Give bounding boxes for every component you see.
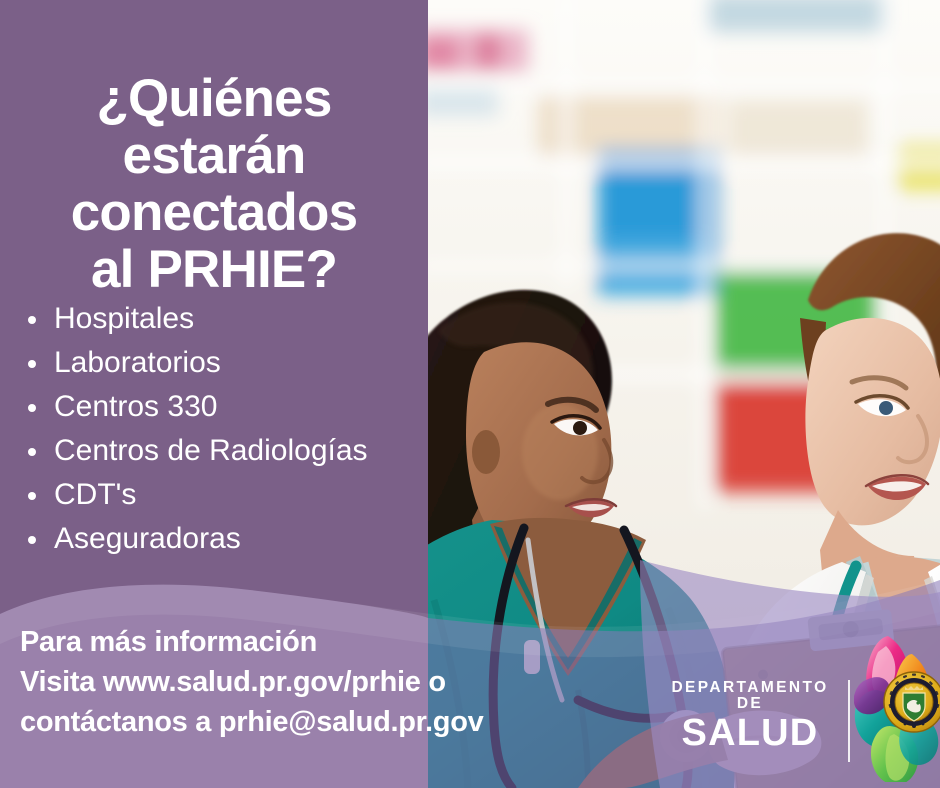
list-item-label: Centros 330 (54, 390, 217, 423)
list-item-label: Hospitales (54, 302, 194, 335)
list-item: Hospitales (18, 297, 428, 341)
list-item: Aseguradoras (18, 517, 428, 561)
logo-wordmark: DEPARTAMENTO DE SALUD (664, 680, 836, 753)
logo-line-salud: SALUD (664, 714, 836, 753)
list-item-label: Laboratorios (54, 346, 221, 379)
bullet-dot-icon (28, 360, 36, 368)
list-item-label: CDT's (54, 478, 136, 511)
list-item-label: Centros de Radiologías (54, 434, 368, 467)
poster-root: ¿Quiénes estarán conectados al PRHIE? Ho… (0, 0, 940, 788)
connected-entities-list: Hospitales Laboratorios Centros 330 Cent… (18, 297, 428, 561)
department-logo: DEPARTAMENTO DE SALUD (664, 636, 940, 776)
bullet-dot-icon (28, 316, 36, 324)
logo-line-departamento: DEPARTAMENTO DE (664, 680, 836, 711)
list-item: CDT's (18, 473, 428, 517)
bullet-dot-icon (28, 448, 36, 456)
page-title: ¿Quiénes estarán conectados al PRHIE? (0, 70, 428, 299)
bullet-dot-icon (28, 492, 36, 500)
bullet-dot-icon (28, 536, 36, 544)
contact-info-text: Para más información Visita www.salud.pr… (20, 622, 620, 742)
list-item-label: Aseguradoras (54, 522, 241, 555)
list-item: Laboratorios (18, 341, 428, 385)
pinwheel-emblem-icon (854, 630, 940, 782)
list-item: Centros de Radiologías (18, 429, 428, 473)
logo-divider (848, 680, 850, 762)
list-item: Centros 330 (18, 385, 428, 429)
bullet-dot-icon (28, 404, 36, 412)
